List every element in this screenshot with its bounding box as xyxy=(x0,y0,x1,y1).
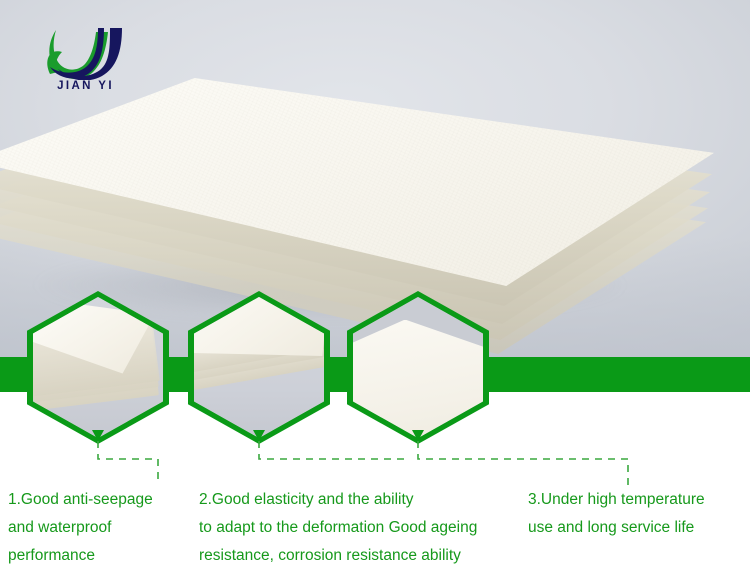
brand-logo: JIAN YI xyxy=(34,22,129,100)
connector-arrow-1 xyxy=(92,430,104,441)
jianyi-leaf-swoosh-logo xyxy=(34,22,129,80)
connector-path-2 xyxy=(259,441,404,459)
connector-path-1 xyxy=(98,441,158,482)
hex-callout-1 xyxy=(27,291,169,444)
brand-name: JIAN YI xyxy=(38,80,133,92)
connector-arrow-3 xyxy=(412,430,424,441)
hex-callout-3 xyxy=(347,291,489,444)
feature-list: 1.Good anti-seepage and waterproof perfo… xyxy=(0,484,750,581)
feature-item-3: 3.Under high temperature use and long se… xyxy=(528,486,750,542)
connector-arrow-2 xyxy=(253,430,265,441)
feature-item-2: 2.Good elasticity and the ability to ada… xyxy=(199,486,529,570)
connector-path-3 xyxy=(418,441,628,485)
product-infographic: JIAN YI xyxy=(0,0,750,581)
hex-callout-2 xyxy=(188,291,330,444)
feature-item-1: 1.Good anti-seepage and waterproof perfo… xyxy=(8,486,198,570)
